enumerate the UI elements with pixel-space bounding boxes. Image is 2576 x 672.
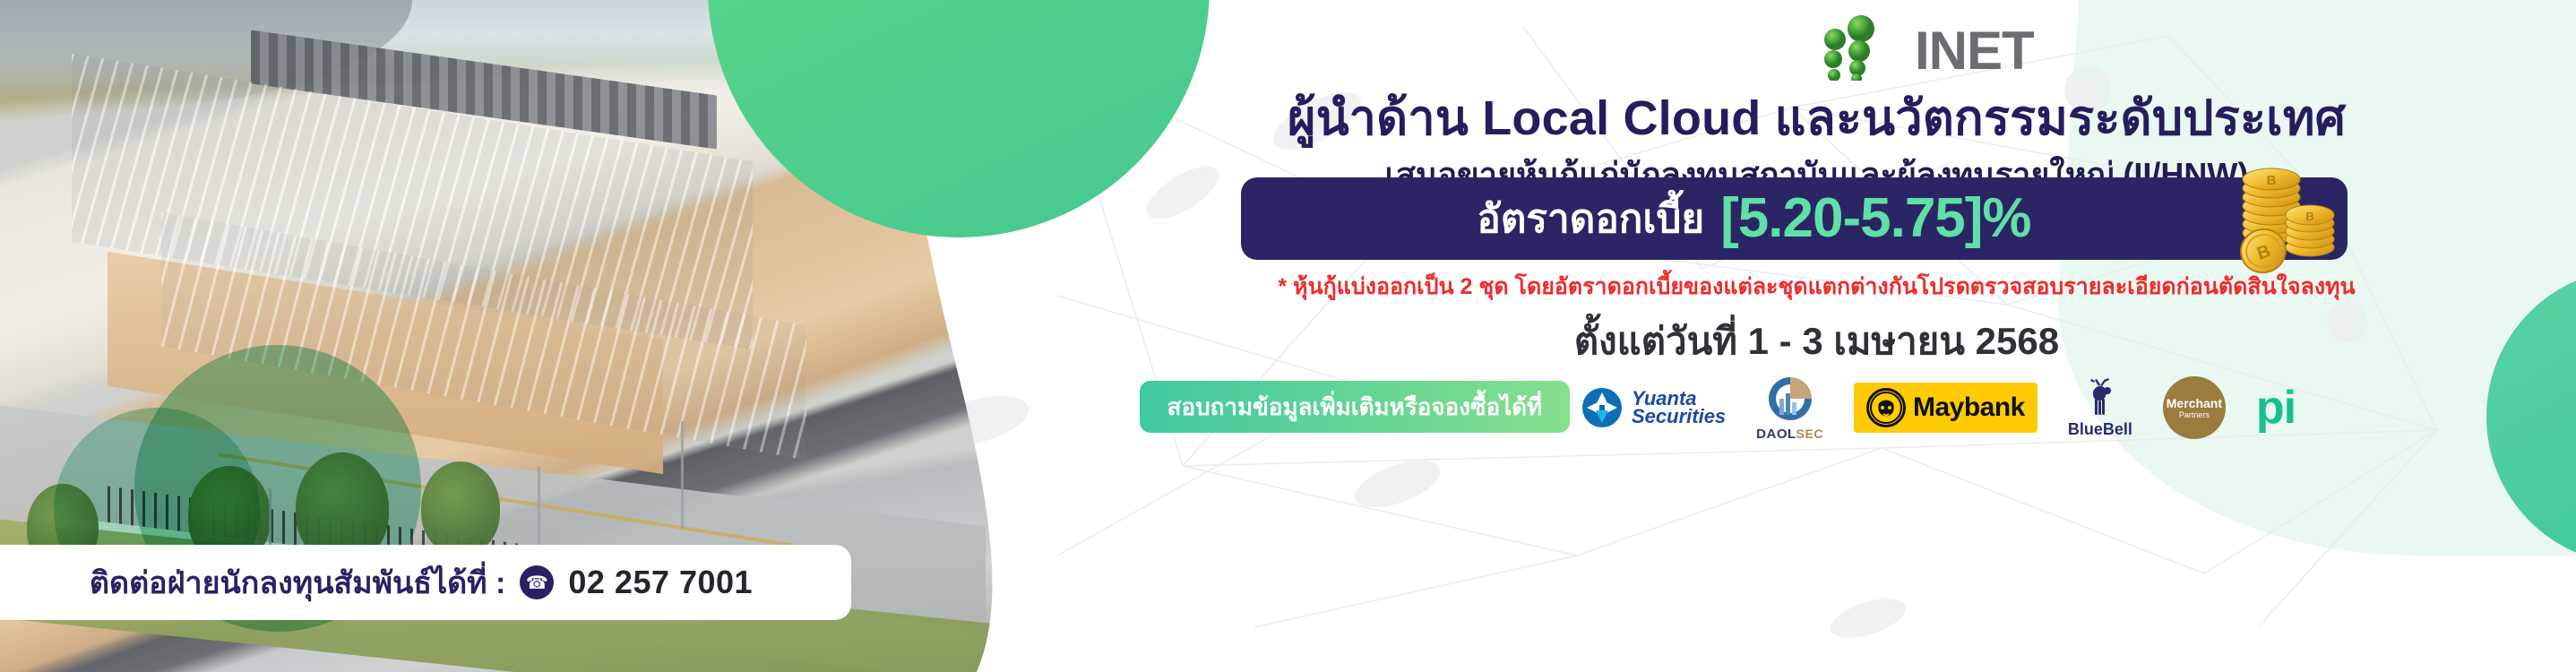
merchant-line1: Merchant bbox=[2167, 397, 2222, 409]
broker-logo-daol[interactable]: DAOLSEC bbox=[1756, 369, 1823, 446]
maybank-word: Maybank bbox=[1913, 392, 2025, 423]
merchant-circle-icon: Merchant Partners bbox=[2163, 376, 2226, 439]
merchant-line2: Partners bbox=[2179, 411, 2210, 419]
interest-rate-value: [5.20-5.75]% bbox=[1720, 191, 2030, 246]
daol-pie-icon bbox=[1765, 374, 1815, 424]
interest-rate-box: อัตราดอกเบี้ย [5.20-5.75]% bbox=[1241, 177, 2348, 260]
hero-headline: ผู้นำด้าน Local Cloud และนวัตกรรมระดับปร… bbox=[1057, 79, 2576, 156]
daol-word: DAOL bbox=[1756, 426, 1796, 442]
gold-coins-icon: B B B bbox=[2231, 151, 2339, 276]
svg-text:B: B bbox=[2267, 173, 2277, 188]
photo-flag-pole bbox=[681, 421, 684, 529]
inet-logo-text: INET bbox=[1915, 20, 2034, 82]
svg-text:B: B bbox=[2305, 210, 2313, 223]
cta-button-label: สอบถามข้อมูลเพิ่มเติมหรือจองซื้อได้ที่ bbox=[1167, 389, 1543, 426]
broker-logo-bluebell[interactable]: BlueBell bbox=[2068, 369, 2132, 446]
broker-logo-yuanta[interactable]: Yuanta Securities bbox=[1581, 369, 1726, 446]
inet-logo: INET bbox=[1805, 13, 2110, 81]
broker-logo-merchant-partners[interactable]: Merchant Partners bbox=[2163, 369, 2226, 446]
photo-tree bbox=[421, 461, 500, 555]
pi-word: pi bbox=[2256, 384, 2296, 431]
offer-date-range: ตั้งแต่วันที่ 1 - 3 เมษายน 2568 bbox=[1057, 312, 2576, 371]
interest-rate-label: อัตราดอกเบี้ย bbox=[1477, 187, 1704, 250]
inet-dots-logo-icon bbox=[1805, 13, 1913, 81]
inet-bond-promo-banner: INET ผู้นำด้าน Local Cloud และนวัตกรรมระ… bbox=[0, 0, 2576, 672]
contact-phone-number[interactable]: 02 257 7001 bbox=[568, 564, 753, 601]
phone-icon: ☎ bbox=[520, 565, 554, 599]
investor-relations-contact-bar: ติดต่อฝ่ายนักลงทุนสัมพันธ์ได้ที่ : ☎ 02 … bbox=[0, 545, 851, 620]
daol-sub: SEC bbox=[1796, 426, 1823, 441]
maybank-tiger-icon bbox=[1866, 388, 1906, 427]
yuanta-star-icon bbox=[1581, 387, 1623, 428]
disclaimer-note: * หุ้นกู้แบ่งออกเป็น 2 ชุด โดยอัตราดอกเบ… bbox=[1057, 269, 2576, 305]
broker-logo-pi[interactable]: pi bbox=[2256, 369, 2296, 446]
broker-logo-maybank[interactable]: Maybank bbox=[1854, 369, 2038, 446]
yuanta-line2: Securities bbox=[1632, 407, 1726, 426]
contact-label: ติดต่อฝ่ายนักลงทุนสัมพันธ์ได้ที่ : bbox=[90, 558, 505, 607]
bluebell-word: BlueBell bbox=[2068, 420, 2132, 439]
cta-button[interactable]: สอบถามข้อมูลเพิ่มเติมหรือจองซื้อได้ที่ bbox=[1140, 381, 1570, 433]
broker-logo-row: Yuanta Securities DAOLSEC bbox=[1581, 369, 2576, 446]
bluebell-deer-icon bbox=[2081, 377, 2120, 418]
content-column: INET ผู้นำด้าน Local Cloud และนวัตกรรมระ… bbox=[1057, 0, 2576, 672]
